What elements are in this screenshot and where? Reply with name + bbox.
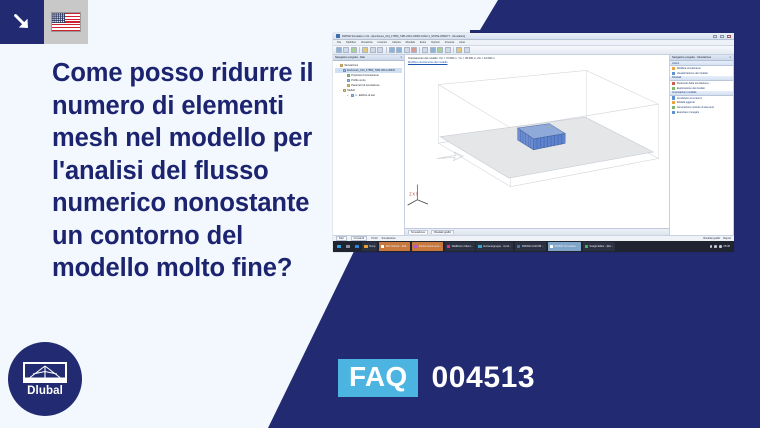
menu-item-extra[interactable]: Extra (420, 41, 426, 44)
task-item[interactable]: Esportare immagini (670, 110, 733, 115)
taskbar-button-active[interactable]: RWIND Simulation ... (548, 242, 581, 251)
tree-label: Profilo vento (351, 79, 365, 82)
task-item-label[interactable]: Esplorazione dei risultati (677, 87, 705, 90)
task-item-label[interactable]: Generazione reticolo di elementi (677, 106, 714, 109)
tree-label: Modelli (347, 89, 355, 92)
maximize-button[interactable] (720, 35, 724, 38)
status-tab-risultati[interactable]: Risultati grafici (703, 237, 720, 240)
menu-item-modifica[interactable]: Modifica (346, 41, 356, 44)
tree-icon (351, 94, 354, 97)
toolbar-separator (453, 47, 454, 53)
toolbar-save-icon[interactable] (351, 47, 357, 53)
rwind-simulation-screenshot: RWIND Simulation 1.01 - [Enclosure_013_1… (333, 33, 734, 252)
close-button[interactable] (727, 35, 731, 38)
menu-item-opzioni[interactable]: Opzioni (431, 41, 440, 44)
app-body: Navigatore progetto - Dati × - Simulazio… (333, 55, 734, 235)
faq-badge: FAQ (338, 359, 418, 397)
taskbar-button-label: MailRoom Client... (452, 245, 473, 248)
menu-item-inserisci[interactable]: Inserisci (378, 41, 388, 44)
toolbar-results-icon[interactable] (445, 47, 451, 53)
toolbar-run-icon[interactable] (437, 47, 443, 53)
toolbar-separator (419, 47, 420, 53)
taskbar-button-label: RWIND Simulation ... (555, 245, 579, 248)
tree-icon (347, 79, 350, 82)
tree-label: Enclosure_013_17850_7481-0011-ORFD (347, 69, 395, 72)
toolbar-zoom-icon[interactable] (389, 47, 395, 53)
dlubal-wordmark: Dlubal (27, 385, 63, 397)
taskbar-button-label: Snagit Editor - (EC... (590, 245, 614, 248)
tree-icon (343, 89, 346, 92)
tree-label: Simulazione (344, 64, 358, 67)
taskbar-button[interactable]: Extranetgruppe - Grub... (476, 242, 513, 251)
task-item-label[interactable]: Parametri della simulazione... (677, 82, 711, 85)
3d-canvas[interactable]: Z X Y (405, 65, 669, 228)
app-title-bar: RWIND Simulation 1.01 - [Enclosure_013_1… (333, 33, 734, 40)
app-title: RWIND Simulation 1.01 - [Enclosure_013_1… (342, 35, 465, 38)
menu-item-file[interactable]: File (337, 41, 341, 44)
taskbar-button[interactable]: Temp (362, 242, 377, 251)
toolbar-grid-icon[interactable] (422, 47, 428, 53)
faq-number: 004513 (431, 362, 535, 394)
toolbar-help-icon[interactable] (464, 47, 470, 53)
tree-item[interactable]: + 1 - Edificio di test (335, 93, 402, 98)
toolbar-redo-icon[interactable] (377, 47, 383, 53)
taskbar-button[interactable]: MS Outlook - IMA... (379, 242, 411, 251)
tray-icon[interactable] (714, 245, 717, 248)
tab-risultati-grafici[interactable]: Risultati grafici (431, 230, 454, 234)
task-item-icon (672, 106, 675, 109)
task-item-icon (672, 87, 675, 90)
flag-canton (52, 13, 65, 23)
status-bar-right: Risultati grafici Report (703, 237, 731, 240)
taskbar-button-label: RWIND CAD DB ... (522, 245, 544, 248)
windows-start-icon[interactable] (335, 242, 343, 251)
app-icon (336, 34, 340, 38)
menu-item-calcola[interactable]: Calcola (392, 41, 401, 44)
toolbar-pan-icon[interactable] (396, 47, 402, 53)
tray-icon[interactable] (710, 245, 713, 248)
system-tray[interactable]: 08:38 (710, 245, 732, 248)
taskbar-button[interactable]: MailRoom Client... (445, 242, 475, 251)
taskbar-button-label: Extranetgruppe - Grub... (483, 245, 511, 248)
task-item-label[interactable]: Modifica simulazione (677, 67, 701, 70)
task-item-label[interactable]: Visualizzazione dei risultati (677, 72, 708, 75)
task-panel-close-icon[interactable]: × (729, 56, 731, 59)
task-item-icon (672, 82, 675, 85)
toolbar-settings-icon[interactable] (456, 47, 462, 53)
menu-item-risultati[interactable]: Risultati (406, 41, 415, 44)
us-flag-image (51, 12, 81, 32)
page-title: Come posso ridurre il numero di elementi… (52, 57, 330, 285)
faq-footer: FAQ 004513 (338, 359, 535, 397)
navigator-close-icon[interactable]: × (400, 56, 402, 59)
arrow-down-right-icon (0, 0, 44, 44)
windows-taskbar[interactable]: Temp MS Outlook - IMA... Dlubal document… (333, 241, 734, 252)
project-tree[interactable]: - Simulazione - Enclosure_013_17850_7481… (333, 61, 404, 100)
taskbar-button-label: Dlubal documenti... (419, 245, 441, 248)
toolbar-open-icon[interactable] (343, 47, 349, 53)
taskview-icon[interactable] (344, 242, 352, 251)
task-item-icon (672, 72, 675, 75)
taskbar-button[interactable]: Snagit Editor - (EC... (583, 242, 616, 251)
toolbar-separator (386, 47, 387, 53)
task-item-icon (672, 101, 675, 104)
toolbar-new-icon[interactable] (336, 47, 342, 53)
toolbar-render-icon[interactable] (411, 47, 417, 53)
tree-label: Proprietà di simulazione (351, 74, 379, 77)
tray-icon[interactable] (719, 245, 722, 248)
tree-twisty[interactable]: + (346, 94, 349, 97)
taskbar-clock[interactable]: 08:38 (724, 245, 731, 248)
task-item-label[interactable]: Condizioni al contorno (677, 97, 703, 100)
minimize-button[interactable] (713, 35, 717, 38)
tree-label: 1 - Edificio di test (355, 94, 375, 97)
dlubal-bridge-icon (23, 362, 67, 383)
menu-item-finestra[interactable]: Finestra (445, 41, 454, 44)
tree-icon (347, 74, 350, 77)
navigator-title: Navigatore progetto - Dati (335, 56, 365, 59)
axis-labels: Z X Y (409, 191, 418, 196)
toolbar-separator (359, 47, 360, 53)
simulation-task-panel[interactable]: Navigatore progetto - Simulazione × Azio… (670, 55, 734, 235)
tree-icon (343, 69, 346, 72)
status-value-scale: 70.00 (371, 237, 378, 240)
status-value-mode: Simulazione (382, 237, 396, 240)
task-item-label[interactable]: Modelli aggiunti (677, 101, 695, 104)
top-left-badges (0, 0, 88, 44)
task-panel-title: Navigatore progetto - Simulazione (672, 56, 711, 59)
us-flag-icon (44, 0, 88, 44)
toolbar-rotate-icon[interactable] (404, 47, 410, 53)
tree-label: Parametri di simulazione (351, 84, 379, 87)
tree-twisty[interactable]: - (335, 64, 338, 67)
taskbar-button-label: Temp (369, 245, 375, 248)
viewport-tabs[interactable]: Simulazione Risultati grafici (405, 228, 669, 235)
taskbar-button[interactable]: RWIND CAD DB ... (515, 242, 546, 251)
tab-simulazione[interactable]: Simulazione (408, 230, 428, 234)
faq-slide: Come posso ridurre il numero di elementi… (0, 0, 760, 428)
tree-twisty[interactable]: - (338, 69, 341, 72)
menu-item-visualizza[interactable]: Visualizza (361, 41, 373, 44)
tree-icon (340, 64, 343, 67)
app-toolbar[interactable] (333, 46, 734, 55)
toolbar-print-icon[interactable] (362, 47, 368, 53)
task-item-icon (672, 96, 675, 99)
task-item-label[interactable]: Esportare immagini (677, 111, 699, 114)
taskbar-button[interactable]: Dlubal documenti... (412, 242, 443, 251)
tree-icon (347, 84, 350, 87)
toolbar-mesh-icon[interactable] (430, 47, 436, 53)
window-controls[interactable] (713, 35, 731, 38)
taskbar-button-label: MS Outlook - IMA... (386, 245, 409, 248)
tree-twisty[interactable]: - (338, 89, 341, 92)
status-tab-report[interactable]: Report (723, 237, 731, 240)
menu-item-aiuto[interactable]: Aiuto (459, 41, 465, 44)
model-viewport[interactable]: Orientamento del modello: Xm = 72.600 m,… (405, 55, 670, 235)
toolbar-undo-icon[interactable] (370, 47, 376, 53)
dlubal-logo: Dlubal (8, 342, 82, 416)
task-item-icon (672, 111, 675, 114)
project-navigator-panel[interactable]: Navigatore progetto - Dati × - Simulazio… (333, 55, 405, 235)
taskbar-pinned-icon[interactable] (353, 242, 361, 251)
task-item-icon (672, 67, 675, 70)
